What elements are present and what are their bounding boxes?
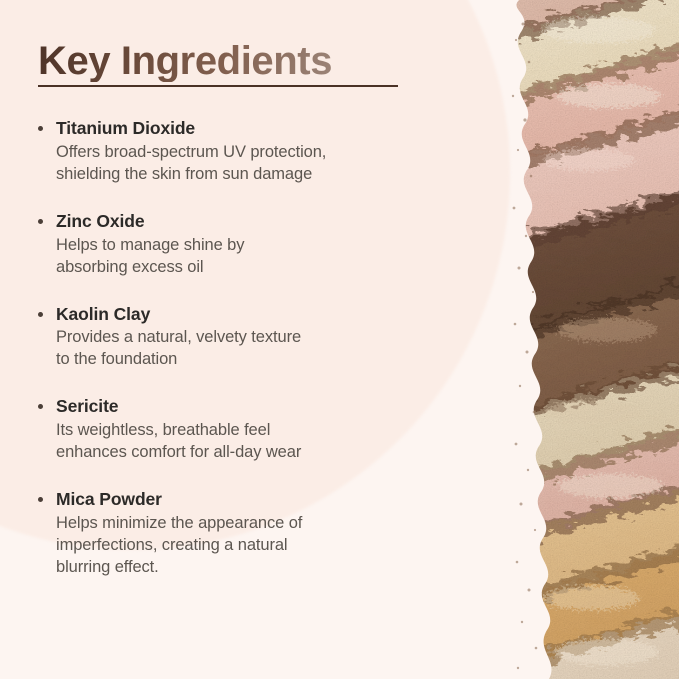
ingredient-name-row: Kaolin Clay [38,304,448,326]
poster-canvas: Key Ingredients Titanium Dioxide Offers … [0,0,679,679]
ingredient-name-row: Sericite [38,396,448,418]
ingredient-name-row: Mica Powder [38,489,448,511]
ingredient-name: Zinc Oxide [56,211,144,231]
page-title-group: Key Ingredients [38,40,400,87]
powder-bands [489,0,679,679]
list-item: Kaolin Clay Provides a natural, velvety … [38,304,448,372]
list-item: Sericite Its weightless, breathable feel… [38,396,448,464]
ingredient-description: Helps minimize the appearance of imperfe… [38,513,448,579]
ingredient-name: Titanium Dioxide [56,118,195,138]
list-item: Zinc Oxide Helps to manage shine by abso… [38,211,448,279]
bullet-icon [38,312,43,317]
ingredient-description: Provides a natural, velvety texture to t… [38,327,448,371]
list-item: Mica Powder Helps minimize the appearanc… [38,489,448,579]
page-title: Key Ingredients [38,40,400,82]
text-column: Key Ingredients Titanium Dioxide Offers … [0,0,470,679]
ingredient-name: Mica Powder [56,489,162,509]
bullet-icon [38,497,43,502]
ingredient-name-row: Zinc Oxide [38,211,448,233]
ingredient-description: Helps to manage shine by absorbing exces… [38,235,448,279]
ingredient-list: Titanium Dioxide Offers broad-spectrum U… [38,118,448,579]
product-powder-image [489,0,679,679]
powder-swatch-illustration [489,0,679,679]
ingredient-name: Kaolin Clay [56,304,150,324]
bullet-icon [38,404,43,409]
ingredient-name-row: Titanium Dioxide [38,118,448,140]
ingredient-description: Its weightless, breathable feel enhances… [38,420,448,464]
title-underline [38,85,398,87]
list-item: Titanium Dioxide Offers broad-spectrum U… [38,118,448,186]
ingredient-description: Offers broad-spectrum UV protection, shi… [38,142,448,186]
bullet-icon [38,219,43,224]
ingredient-name: Sericite [56,396,118,416]
bullet-icon [38,126,43,131]
